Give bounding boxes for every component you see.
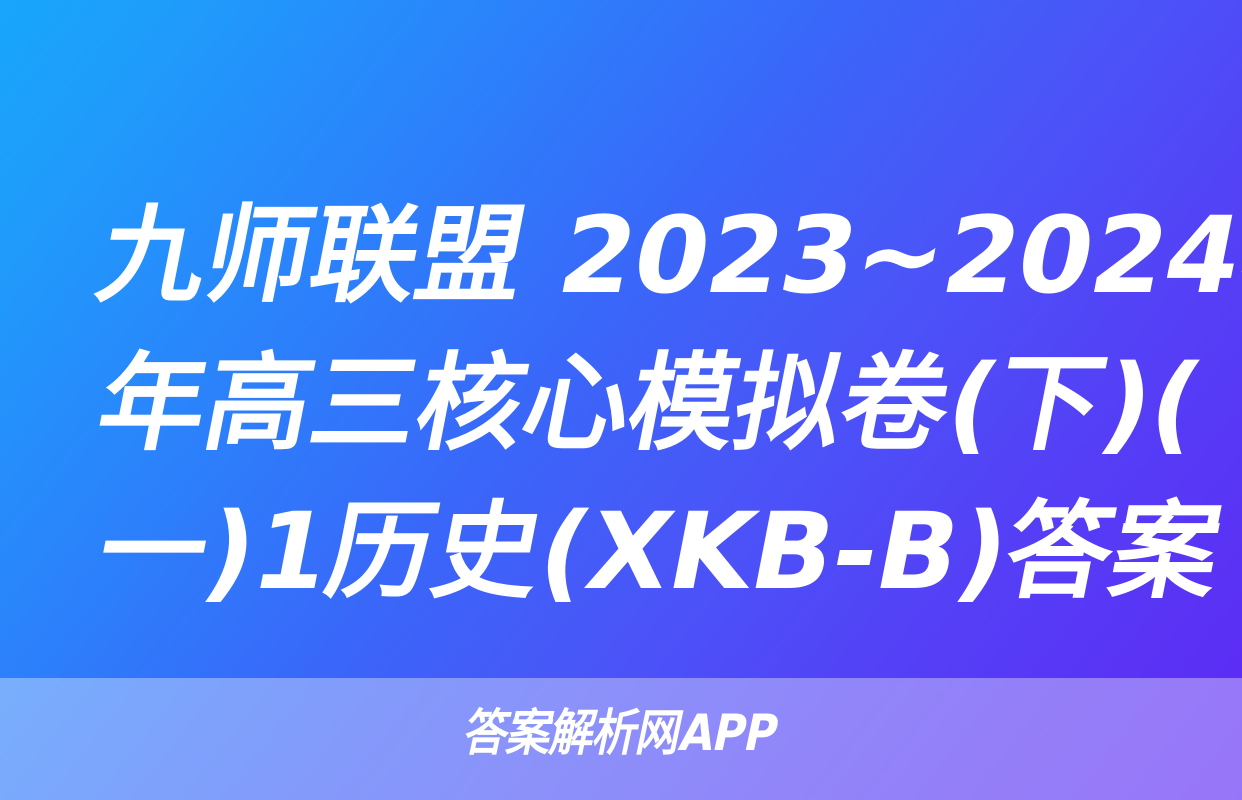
title-line-2: 年高三核心模拟卷(下)( (86, 330, 1195, 478)
promo-banner: 九师联盟 2023~2024学 年高三核心模拟卷(下)( 一)1历史(XKB-B… (0, 0, 1242, 800)
title-line-3: 一)1历史(XKB-B)答案 (86, 478, 1195, 626)
banner-title: 九师联盟 2023~2024学 年高三核心模拟卷(下)( 一)1历史(XKB-B… (86, 182, 1166, 626)
watermark-app-name: 答案解析网APP (68, 702, 1174, 764)
title-line-1: 九师联盟 2023~2024学 (86, 182, 1195, 330)
